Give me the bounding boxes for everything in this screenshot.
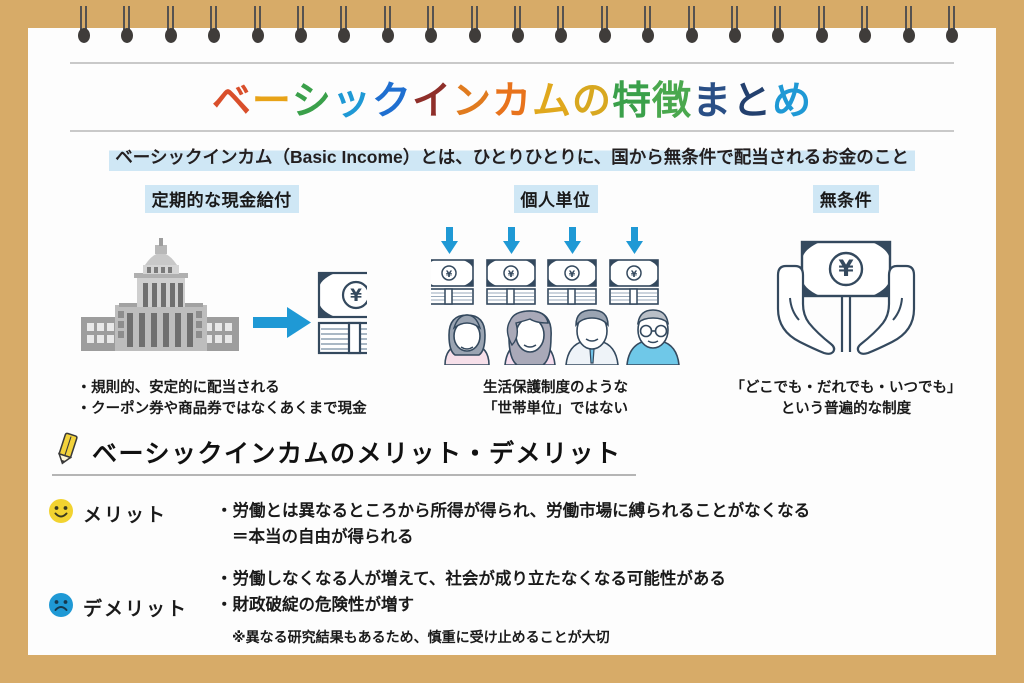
- title-char: ン: [452, 70, 492, 126]
- title-char: ま: [692, 70, 732, 126]
- demerit-tag: デメリット: [48, 592, 216, 623]
- feature-column-unconditional: 無条件 ¥: [696, 185, 996, 420]
- person-girl-icon: [445, 315, 489, 365]
- person-woman-icon: [505, 311, 555, 365]
- merit-tag: メリット: [48, 498, 216, 529]
- feature-heading-2: 個人単位: [514, 185, 598, 213]
- title-char: ー: [252, 70, 292, 126]
- subtitle-banner: ベーシックインカム（Basic Income）とは、ひとりひとりに、国から無条件…: [0, 143, 1024, 171]
- title-rule-bottom: [70, 130, 954, 132]
- title-char: の: [572, 70, 612, 126]
- demerit-body: ・財政破綻の危険性が増す ※異なる研究結果もあるため、慎重に受け止めることが大切: [216, 592, 610, 647]
- svg-text:¥: ¥: [350, 286, 362, 306]
- title-char: シ: [292, 70, 332, 126]
- demerit-row: デメリット ・財政破綻の危険性が増す ※異なる研究結果もあるため、慎重に受け止め…: [48, 592, 610, 647]
- caption-line: ・規則的、安定的に配当される: [77, 378, 367, 399]
- subtitle-text: ベーシックインカム（Basic Income）とは、ひとりひとりに、国から無条件…: [109, 143, 914, 171]
- caption-line: 「世帯単位」ではない: [483, 399, 628, 420]
- caption-line: ・クーポン券や商品券ではなくあくまで現金: [77, 399, 367, 420]
- title-char: と: [732, 70, 772, 126]
- merit-row: メリット ・労働とは異なるところから所得が得られ、労働市場に縛られることがなくな…: [48, 498, 810, 550]
- title-char: ム: [532, 70, 572, 126]
- sad-face-icon: [48, 592, 74, 623]
- smiley-face-icon: [48, 498, 74, 529]
- caption-line: という普遍的な制度: [730, 399, 961, 420]
- title-char: め: [772, 70, 812, 126]
- merits-heading-text: ベーシックインカムのメリット・デメリット: [92, 434, 622, 470]
- person-man-icon: [566, 310, 618, 365]
- demerit-note: ※異なる研究結果もあるため、慎重に受け止めることが大切: [232, 627, 610, 647]
- caption-line: 「どこでも・だれでも・いつでも」: [730, 378, 961, 399]
- demerit-line: ・財政破綻の危険性が増す: [216, 593, 610, 619]
- caption-line: 生活保護制度のような: [483, 378, 628, 399]
- feature-heading-1: 定期的な現金給付: [145, 185, 299, 213]
- merit-body: ・労働とは異なるところから所得が得られ、労働市場に縛られることがなくなる ＝本当…: [216, 498, 810, 550]
- title-rule-top: [70, 62, 954, 64]
- title-char: カ: [492, 70, 532, 126]
- arrow-right-icon: [253, 307, 311, 338]
- title-char: ッ: [332, 70, 372, 126]
- hands-holding-banknote-icon: ¥: [696, 213, 996, 378]
- merit-label: メリット: [83, 500, 167, 527]
- title-char: 特: [612, 70, 652, 126]
- page-title: ベーシックインカムの特徴まとめ: [0, 70, 1024, 126]
- feature-column-regular-cash-benefit: 定期的な現金給付: [28, 185, 415, 420]
- svg-text:¥: ¥: [838, 257, 854, 282]
- diet-building-to-cash-icon: ¥: [28, 213, 415, 378]
- feature-columns: 定期的な現金給付: [28, 185, 996, 420]
- infographic-page: ベーシックインカムの特徴まとめ ベーシックインカム（Basic Income）と…: [0, 0, 1024, 683]
- feature-caption-2: 生活保護制度のような 「世帯単位」ではない: [483, 378, 628, 420]
- person-elderly-icon: [627, 310, 679, 365]
- title-char: イ: [412, 70, 452, 126]
- merits-section-heading: ベーシックインカムのメリット・デメリット: [52, 432, 636, 476]
- feature-caption-1: ・規則的、安定的に配当される ・クーポン券や商品券ではなくあくまで現金: [77, 378, 367, 420]
- merit-line: ＝本当の自由が得られる: [232, 525, 810, 551]
- cash-stack-icon: ¥: [319, 273, 367, 353]
- demerit-line: ・労働しなくなる人が増えて、社会が成り立たなくなる可能性がある: [216, 565, 726, 589]
- title-char: ベ: [212, 70, 252, 126]
- four-people-receiving-cash-icon: ¥: [415, 213, 696, 378]
- title-char: 徴: [652, 70, 692, 126]
- feature-column-individual-unit: 個人単位 ¥: [415, 185, 696, 420]
- merit-line: ・労働とは異なるところから所得が得られ、労働市場に縛られることがなくなる: [216, 499, 810, 525]
- title-char: ク: [372, 70, 412, 126]
- pencil-icon: [52, 432, 82, 471]
- demerit-label: デメリット: [83, 594, 188, 621]
- feature-caption-3: 「どこでも・だれでも・いつでも」 という普遍的な制度: [730, 378, 961, 420]
- feature-heading-3: 無条件: [813, 185, 880, 213]
